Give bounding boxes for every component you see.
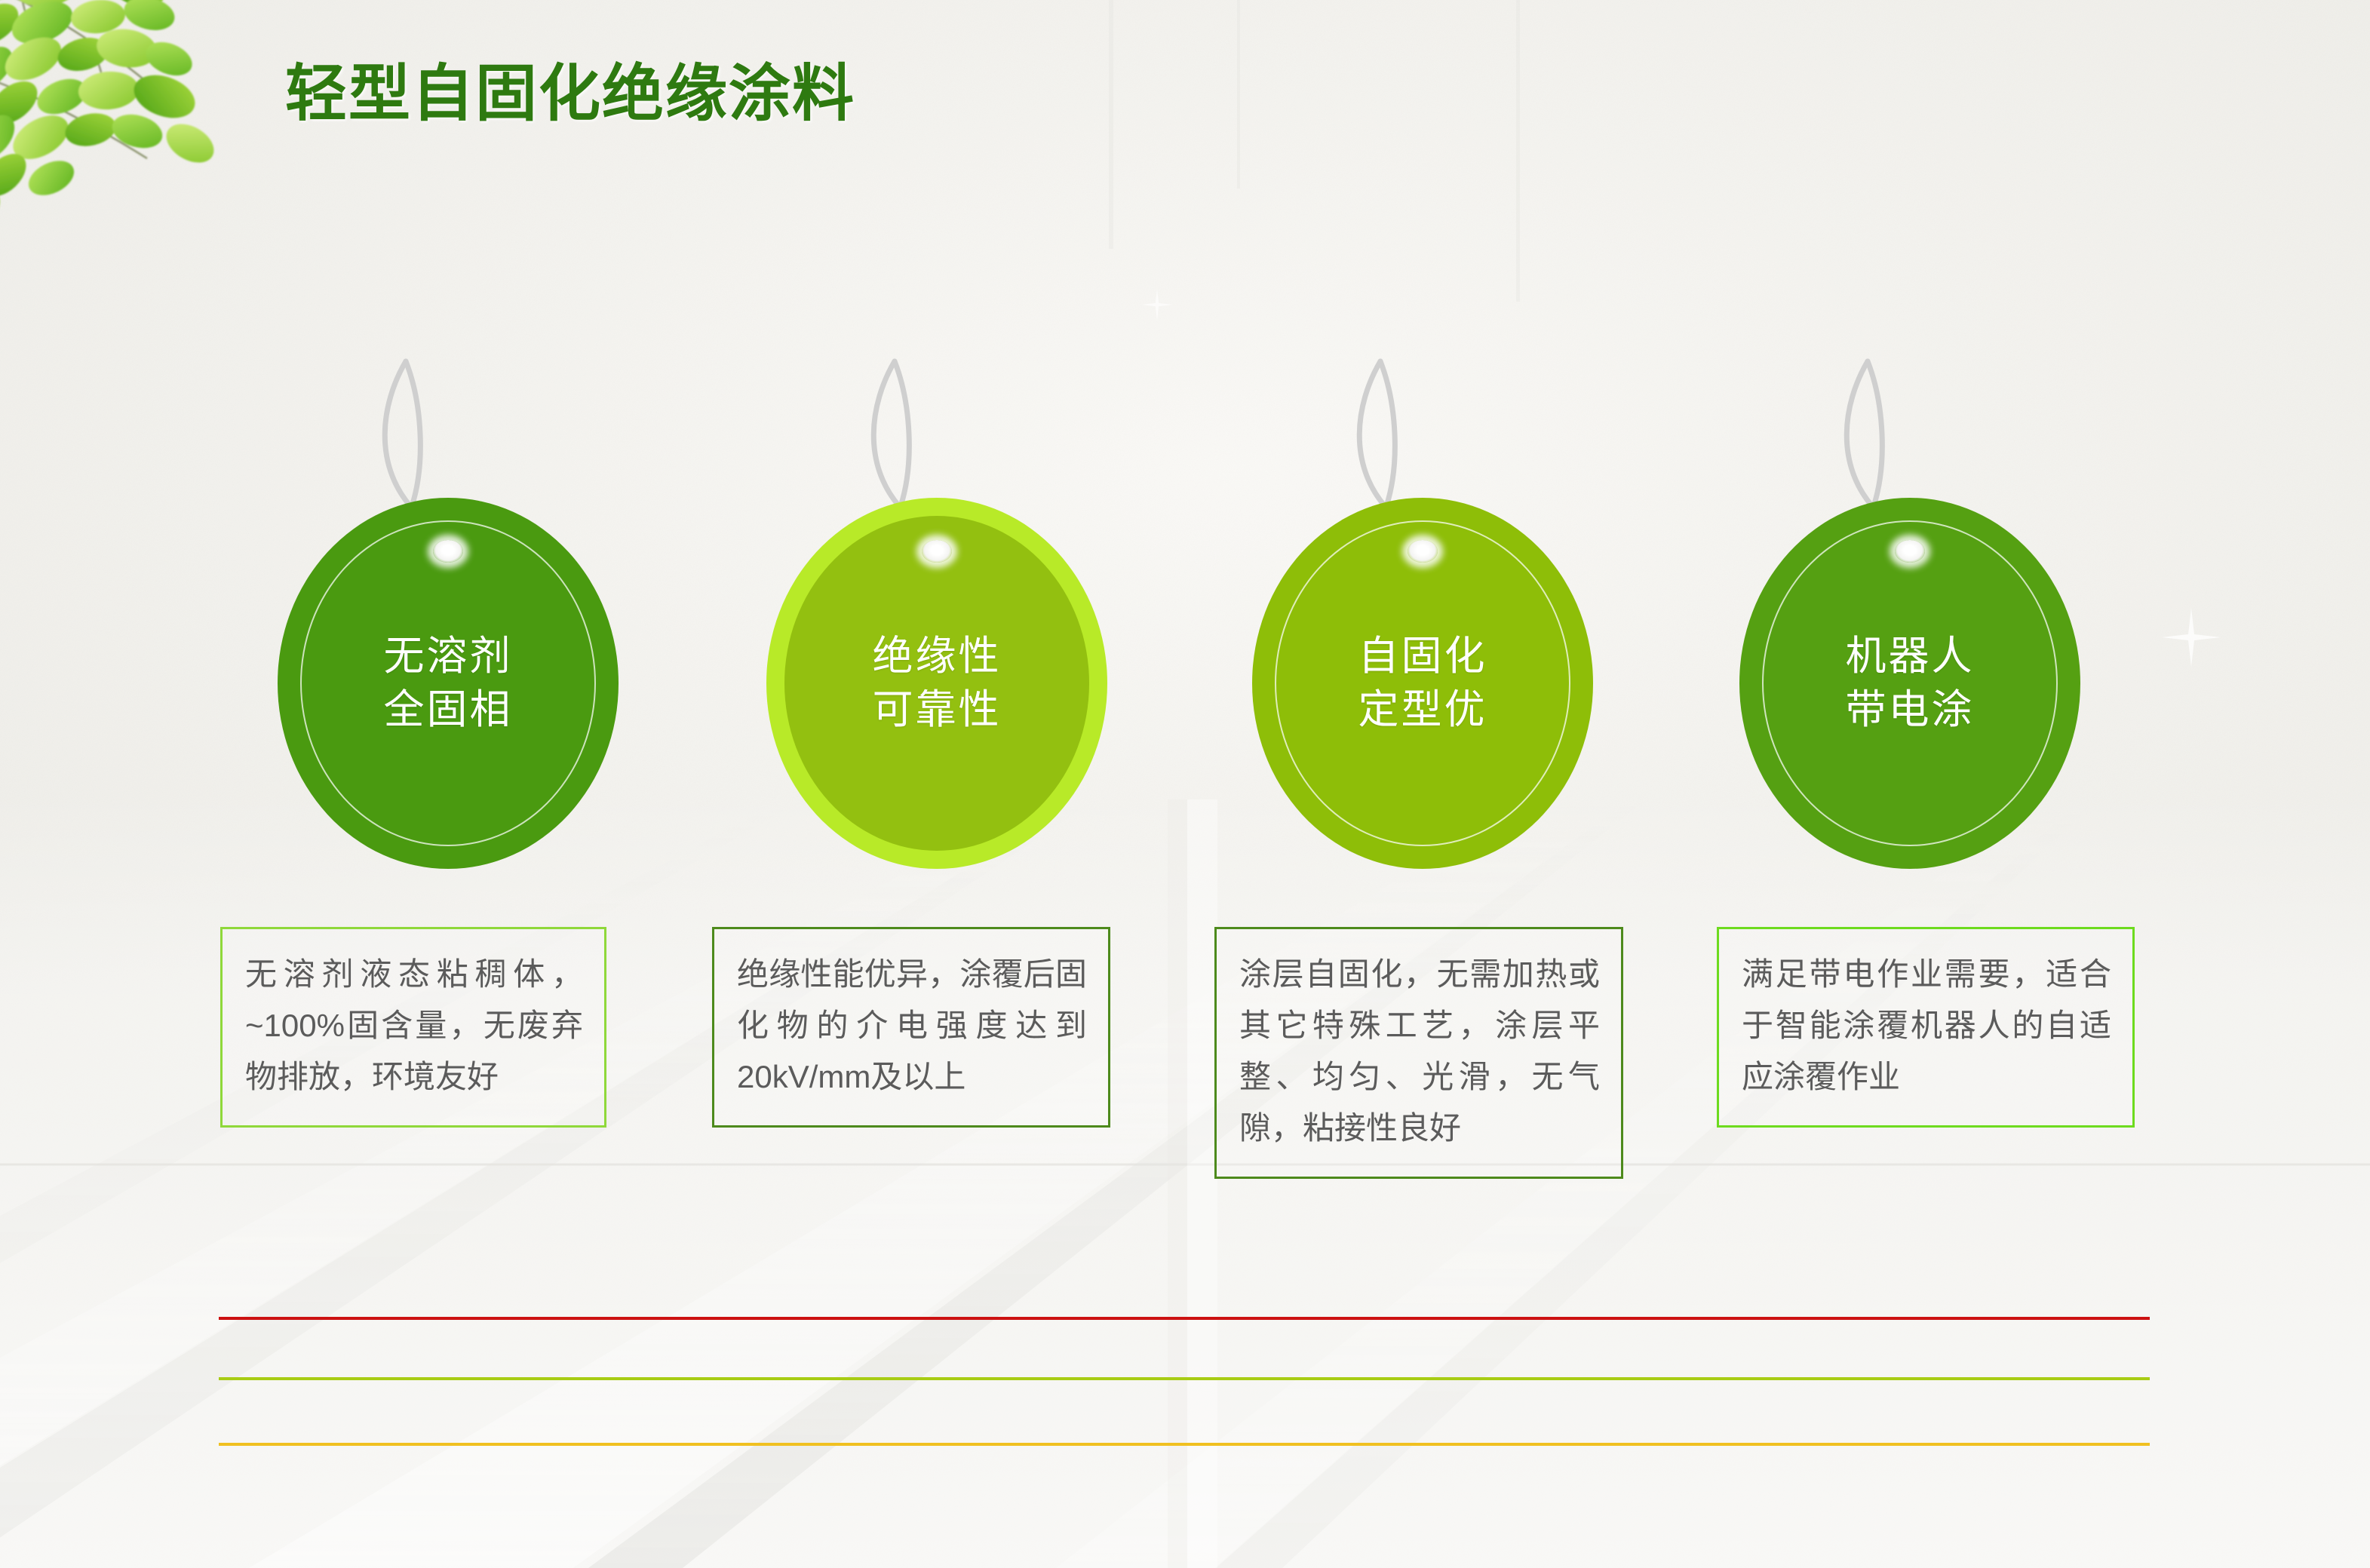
divider-rule-green — [219, 1377, 2150, 1380]
tag-hole-icon — [433, 540, 463, 563]
tag-item-2[interactable]: 绝缘性 可靠性 — [766, 498, 1107, 869]
tag-caption-1: 无溶剂液态粘稠体，~100%固含量，无废弃物排放，环境友好 — [220, 927, 606, 1128]
tag-label-3: 自固化 定型优 — [1358, 630, 1487, 738]
tag-disc-4[interactable]: 机器人 带电涂 — [1739, 498, 2080, 869]
tag-hole-icon — [1895, 540, 1925, 563]
tag-item-4[interactable]: 机器人 带电涂 — [1739, 498, 2080, 869]
tag-disc-1[interactable]: 无溶剂 全固相 — [278, 498, 619, 869]
tag-label-line2: 带电涂 — [1846, 683, 1975, 737]
tag-label-line1: 自固化 — [1358, 630, 1487, 683]
tag-caption-2: 绝缘性能优异，涂覆后固化物的介电强度达到20kV/mm及以上 — [712, 927, 1110, 1128]
divider-rule-red — [219, 1317, 2150, 1320]
tag-label-line2: 可靠性 — [873, 683, 1002, 737]
tag-item-3[interactable]: 自固化 定型优 — [1252, 498, 1593, 869]
slide-canvas: 轻型自固化绝缘涂料 无溶剂 全固相 — [0, 0, 2370, 1568]
tag-label-line1: 机器人 — [1846, 630, 1975, 683]
tag-item-1[interactable]: 无溶剂 全固相 — [278, 498, 619, 869]
tag-label-line1: 绝缘性 — [873, 630, 1002, 683]
tag-disc-3[interactable]: 自固化 定型优 — [1252, 498, 1593, 869]
tag-label-line2: 定型优 — [1358, 683, 1487, 737]
tag-label-4: 机器人 带电涂 — [1846, 630, 1975, 738]
tag-caption-4: 满足带电作业需要，适合于智能涂覆机器人的自适应涂覆作业 — [1717, 927, 2135, 1128]
tag-label-1: 无溶剂 全固相 — [384, 630, 513, 738]
tag-label-2: 绝缘性 可靠性 — [873, 630, 1002, 738]
tag-hole-icon — [1408, 540, 1438, 563]
divider-rule-yellow — [219, 1443, 2150, 1446]
tag-row: 无溶剂 全固相 绝缘性 可靠性 — [0, 0, 2370, 1568]
tag-label-line1: 无溶剂 — [384, 630, 513, 683]
tag-caption-3: 涂层自固化，无需加热或其它特殊工艺，涂层平整、均匀、光滑，无气隙，粘接性良好 — [1214, 927, 1623, 1179]
tag-disc-2[interactable]: 绝缘性 可靠性 — [766, 498, 1107, 869]
tag-label-line2: 全固相 — [384, 683, 513, 737]
tag-hole-icon — [922, 540, 952, 563]
